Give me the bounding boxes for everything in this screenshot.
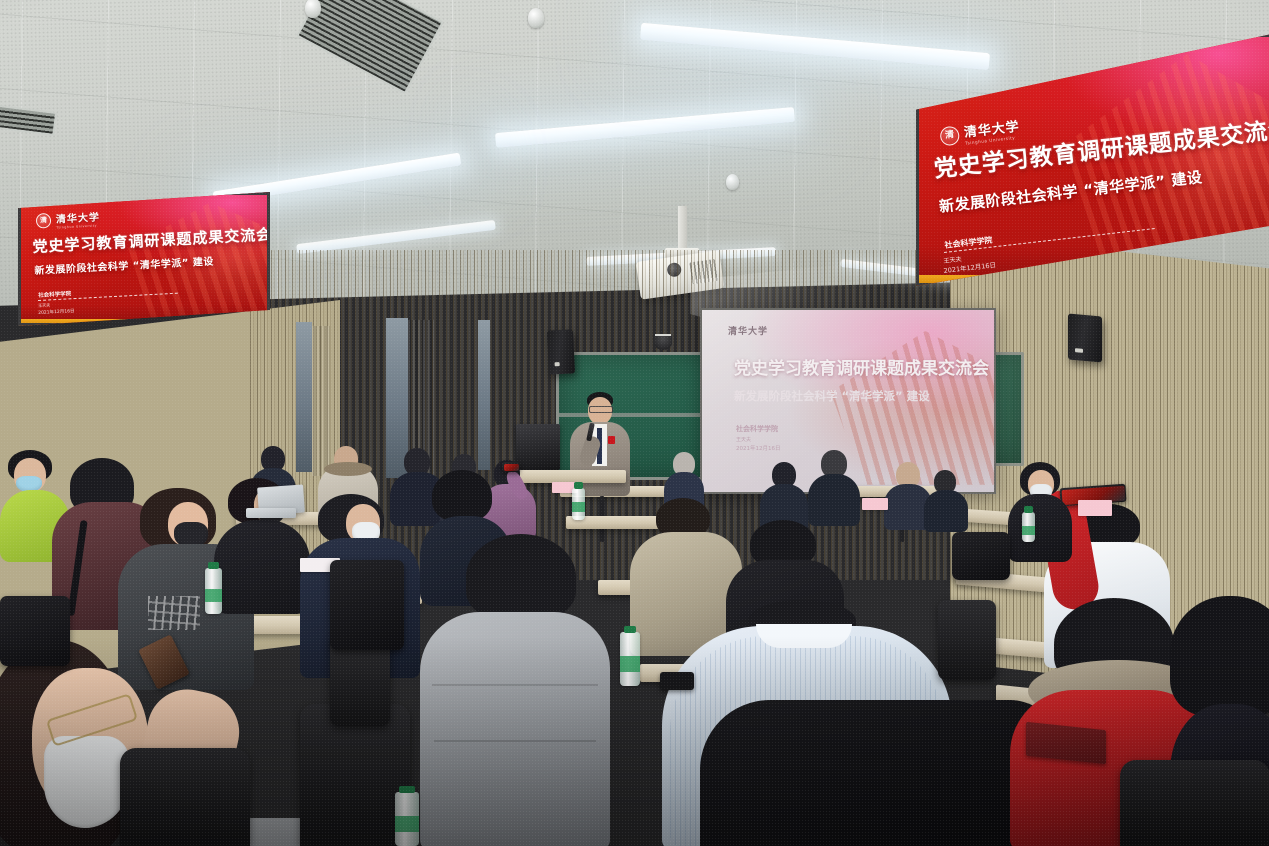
projection-title: 党史学习教育调研课题成果交流会 [734, 354, 989, 379]
smartphone-on-desk [660, 672, 694, 690]
fur-collar [324, 462, 372, 476]
paper-pink-2 [1078, 500, 1112, 516]
presenter-glasses [589, 406, 613, 413]
bottle-label [1022, 526, 1035, 535]
projector-pole [678, 206, 687, 252]
bottle-cap [1024, 506, 1032, 513]
sprinkler-head-right [528, 8, 544, 28]
bottle-cap [208, 562, 219, 569]
hair [1170, 596, 1269, 716]
bottle-cap [574, 482, 582, 489]
body [924, 490, 968, 532]
bottle-label [572, 502, 585, 512]
backpack-2 [952, 532, 1010, 580]
water-bottle-2 [620, 632, 640, 686]
dome-camera [654, 336, 672, 350]
presenter-badge-icon [608, 436, 615, 444]
puffer-seam-1 [432, 684, 598, 686]
body [808, 474, 860, 526]
chair-foreground-1 [120, 748, 250, 846]
puffer-seam-2 [434, 740, 596, 742]
window-right-strip [478, 320, 490, 470]
wall-speaker-right [1068, 314, 1102, 363]
water-bottle-1 [205, 568, 222, 614]
audience-far-2 [760, 462, 808, 528]
sprinkler-head-center [726, 174, 739, 190]
paper-pink-3 [862, 498, 888, 510]
projection-presenter: 王天夫 [736, 436, 751, 443]
led-banner-left: 清 清华大学 Tsinghua University 党史学习教育调研课题成果交… [18, 192, 270, 326]
hair [466, 534, 576, 620]
laptop-2 [246, 508, 296, 518]
projection-organization: 社会科学学院 [736, 424, 778, 434]
audience-far-5 [924, 470, 968, 528]
speaker-left-badge [554, 362, 560, 366]
bottle-label [205, 589, 222, 603]
backpack-1 [330, 560, 404, 650]
sprinkler-head-left [305, 0, 321, 18]
body [214, 520, 310, 614]
water-bottle-5 [1022, 512, 1035, 542]
shirt-collar [756, 624, 852, 648]
speaker-right-badge [1075, 348, 1082, 353]
body [420, 612, 610, 846]
bottle-cap [624, 626, 637, 633]
smartphone-foreground [138, 634, 190, 689]
bottle-label [395, 816, 419, 832]
water-bottle-3 [395, 792, 419, 846]
projection-tsinghua-logo: 清华大学 [728, 324, 768, 337]
tsinghua-seal-icon-left: 清 [36, 213, 52, 229]
water-bottle-4 [572, 488, 585, 520]
audience-black-coat-foreground [700, 700, 1060, 846]
audience-far-3 [808, 450, 860, 522]
body [700, 700, 1060, 846]
hair [432, 470, 492, 522]
projection-subtitle: 新发展阶段社会科学 “清华学派” 建设 [734, 388, 930, 404]
body [1008, 494, 1072, 562]
hoodie-print [148, 596, 200, 630]
bottle-label [620, 656, 640, 672]
window-left [296, 322, 312, 472]
projection-date: 2021年12月16日 [736, 444, 781, 452]
wall-speaker-left [547, 329, 575, 374]
chair-mid-right [938, 600, 996, 680]
backpack-3 [0, 596, 70, 666]
chair-right-foreground [1120, 760, 1269, 846]
banner-left-presenter: 王天夫 [38, 302, 50, 309]
tsinghua-logo-left: 清 清华大学 Tsinghua University [36, 208, 101, 230]
tsinghua-seal-icon: 清 [939, 125, 960, 146]
conference-room-photo: 清 清华大学 Tsinghua University 党史学习教育调研课题成果交… [0, 0, 1269, 846]
audience-right-masked-woman [1008, 462, 1072, 558]
bottle-cap [399, 786, 414, 793]
audience-grey-puffer-center [420, 534, 610, 846]
